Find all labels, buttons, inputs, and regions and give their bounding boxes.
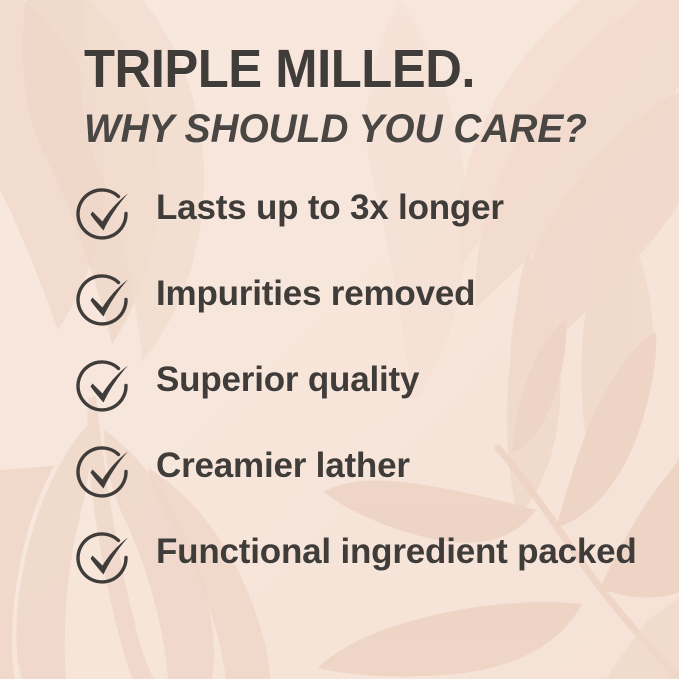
list-item-label: Lasts up to 3x longer <box>156 186 654 229</box>
check-circle-icon <box>74 532 140 594</box>
page-subtitle: WHY SHOULD YOU CARE? <box>84 109 587 149</box>
list-item-label: Superior quality <box>156 358 654 401</box>
check-circle-icon <box>74 360 140 422</box>
poster-content: TRIPLE MILLED. WHY SHOULD YOU CARE? Last… <box>0 0 679 679</box>
list-item-label: Impurities removed <box>156 272 654 315</box>
list-item: Impurities removed <box>74 272 654 358</box>
list-item: Lasts up to 3x longer <box>74 186 654 272</box>
list-item: Functional ingredient packed <box>74 530 654 616</box>
check-circle-icon <box>74 188 140 250</box>
benefits-list: Lasts up to 3x longer Impurities removed <box>74 186 654 616</box>
list-item: Superior quality <box>74 358 654 444</box>
check-circle-icon <box>74 274 140 336</box>
check-circle-icon <box>74 446 140 508</box>
list-item: Creamier lather <box>74 444 654 530</box>
page-title: TRIPLE MILLED. <box>84 42 475 96</box>
product-benefits-poster: TRIPLE MILLED. WHY SHOULD YOU CARE? Last… <box>0 0 679 679</box>
list-item-label: Functional ingredient packed <box>156 530 654 573</box>
list-item-label: Creamier lather <box>156 444 654 487</box>
